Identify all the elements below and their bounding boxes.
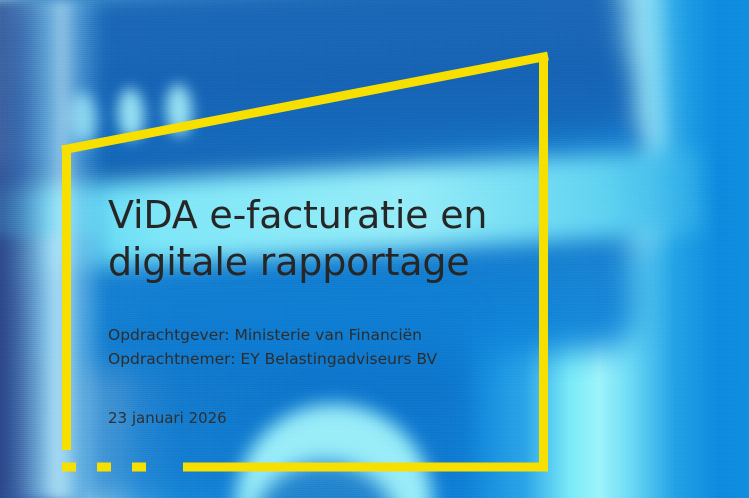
frame-dash-3 xyxy=(132,463,146,472)
page-title: ViDA e-facturatie en digitale rapportage xyxy=(108,192,538,285)
frame-dash-2 xyxy=(97,463,111,472)
date-line: 23 januari 2026 xyxy=(108,408,538,429)
title-slide: ViDA e-facturatie en digitale rapportage… xyxy=(0,0,749,498)
client-line: Opdrachtgever: Ministerie van Financiën xyxy=(108,323,538,347)
frame-top-edge xyxy=(62,56,548,150)
frame-dash-1 xyxy=(62,463,76,472)
slide-text-block: ViDA e-facturatie en digitale rapportage… xyxy=(108,192,538,429)
title-line-1: ViDA e-facturatie en xyxy=(108,193,487,237)
title-line-2: digitale rapportage xyxy=(108,240,469,284)
contractor-line: Opdrachtnemer: EY Belastingadviseurs BV xyxy=(108,347,538,371)
subtitle-group: Opdrachtgever: Ministerie van Financiën … xyxy=(108,323,538,371)
